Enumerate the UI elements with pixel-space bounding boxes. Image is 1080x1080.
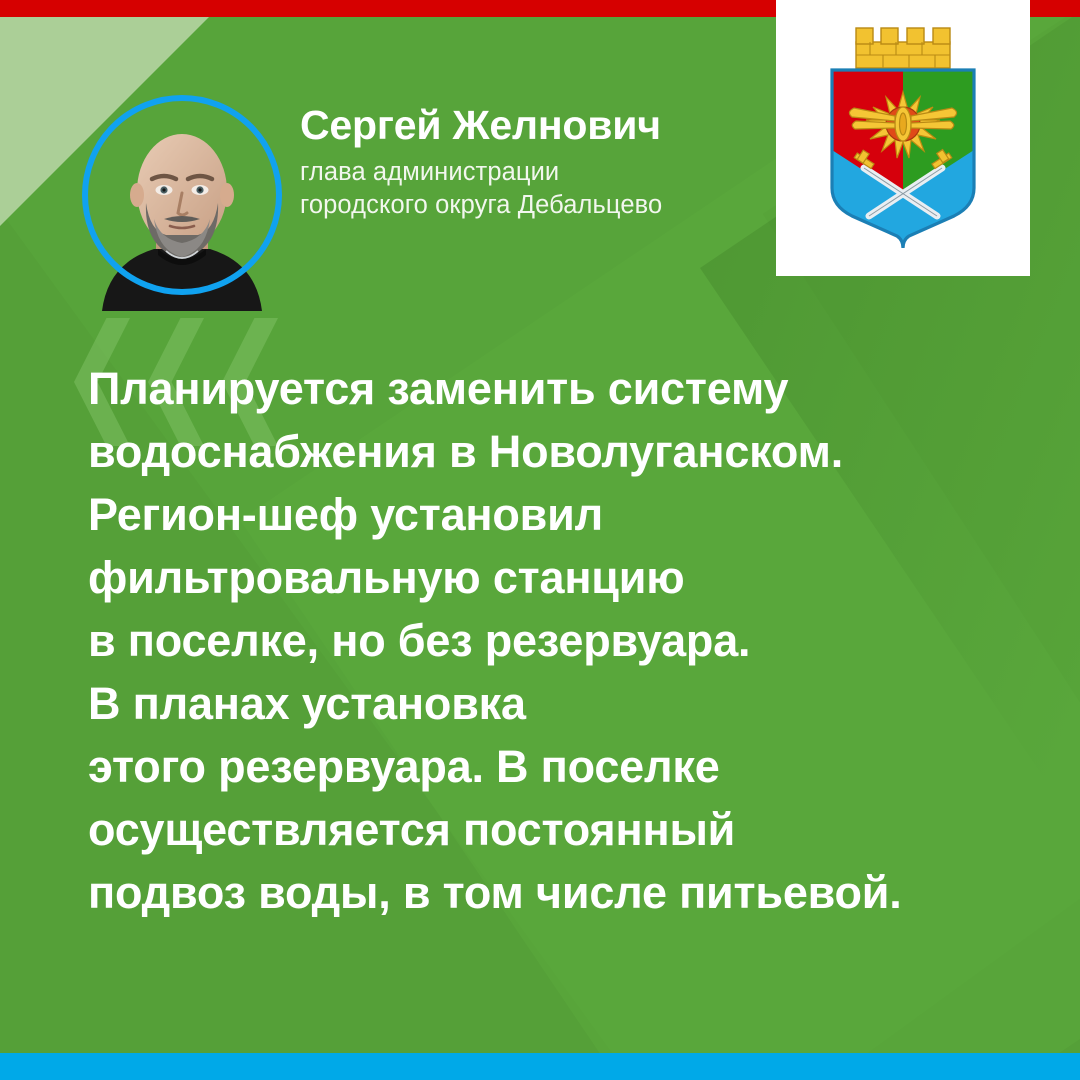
quote-line: этого резервуара. В поселке [88,735,1048,798]
avatar-ring [82,95,282,295]
coat-of-arms-debaltsevo-icon [808,20,998,256]
speaker-role-line-2: городского округа Дебальцево [300,189,770,221]
quote-line: Планируется заменить систему [88,357,1048,420]
bottom-accent-bar [0,1053,1080,1080]
emblem-plate [776,0,1030,276]
quote-card: Сергей Желнович глава администрации горо… [0,0,1080,1080]
quote-line: В планах установка [88,672,1048,735]
quote-line: фильтровальную станцию [88,546,1048,609]
quote-line: Регион-шеф установил [88,483,1048,546]
quote-line: в поселке, но без резервуара. [88,609,1048,672]
quote-line: водоснабжения в Новолуганском. [88,420,1048,483]
speaker-info: Сергей Желнович глава администрации горо… [300,104,770,221]
quote-text: Планируется заменить систему водоснабжен… [88,357,1048,924]
speaker-role-line-1: глава администрации [300,156,770,188]
speaker-name: Сергей Желнович [300,104,770,147]
quote-line: подвоз воды, в том числе питьевой. [88,861,1048,924]
avatar [82,95,282,295]
quote-line: осуществляется постоянный [88,798,1048,861]
speaker-role: глава администрации городского округа Де… [300,156,770,220]
speaker-header: Сергей Желнович глава администрации горо… [0,88,776,303]
